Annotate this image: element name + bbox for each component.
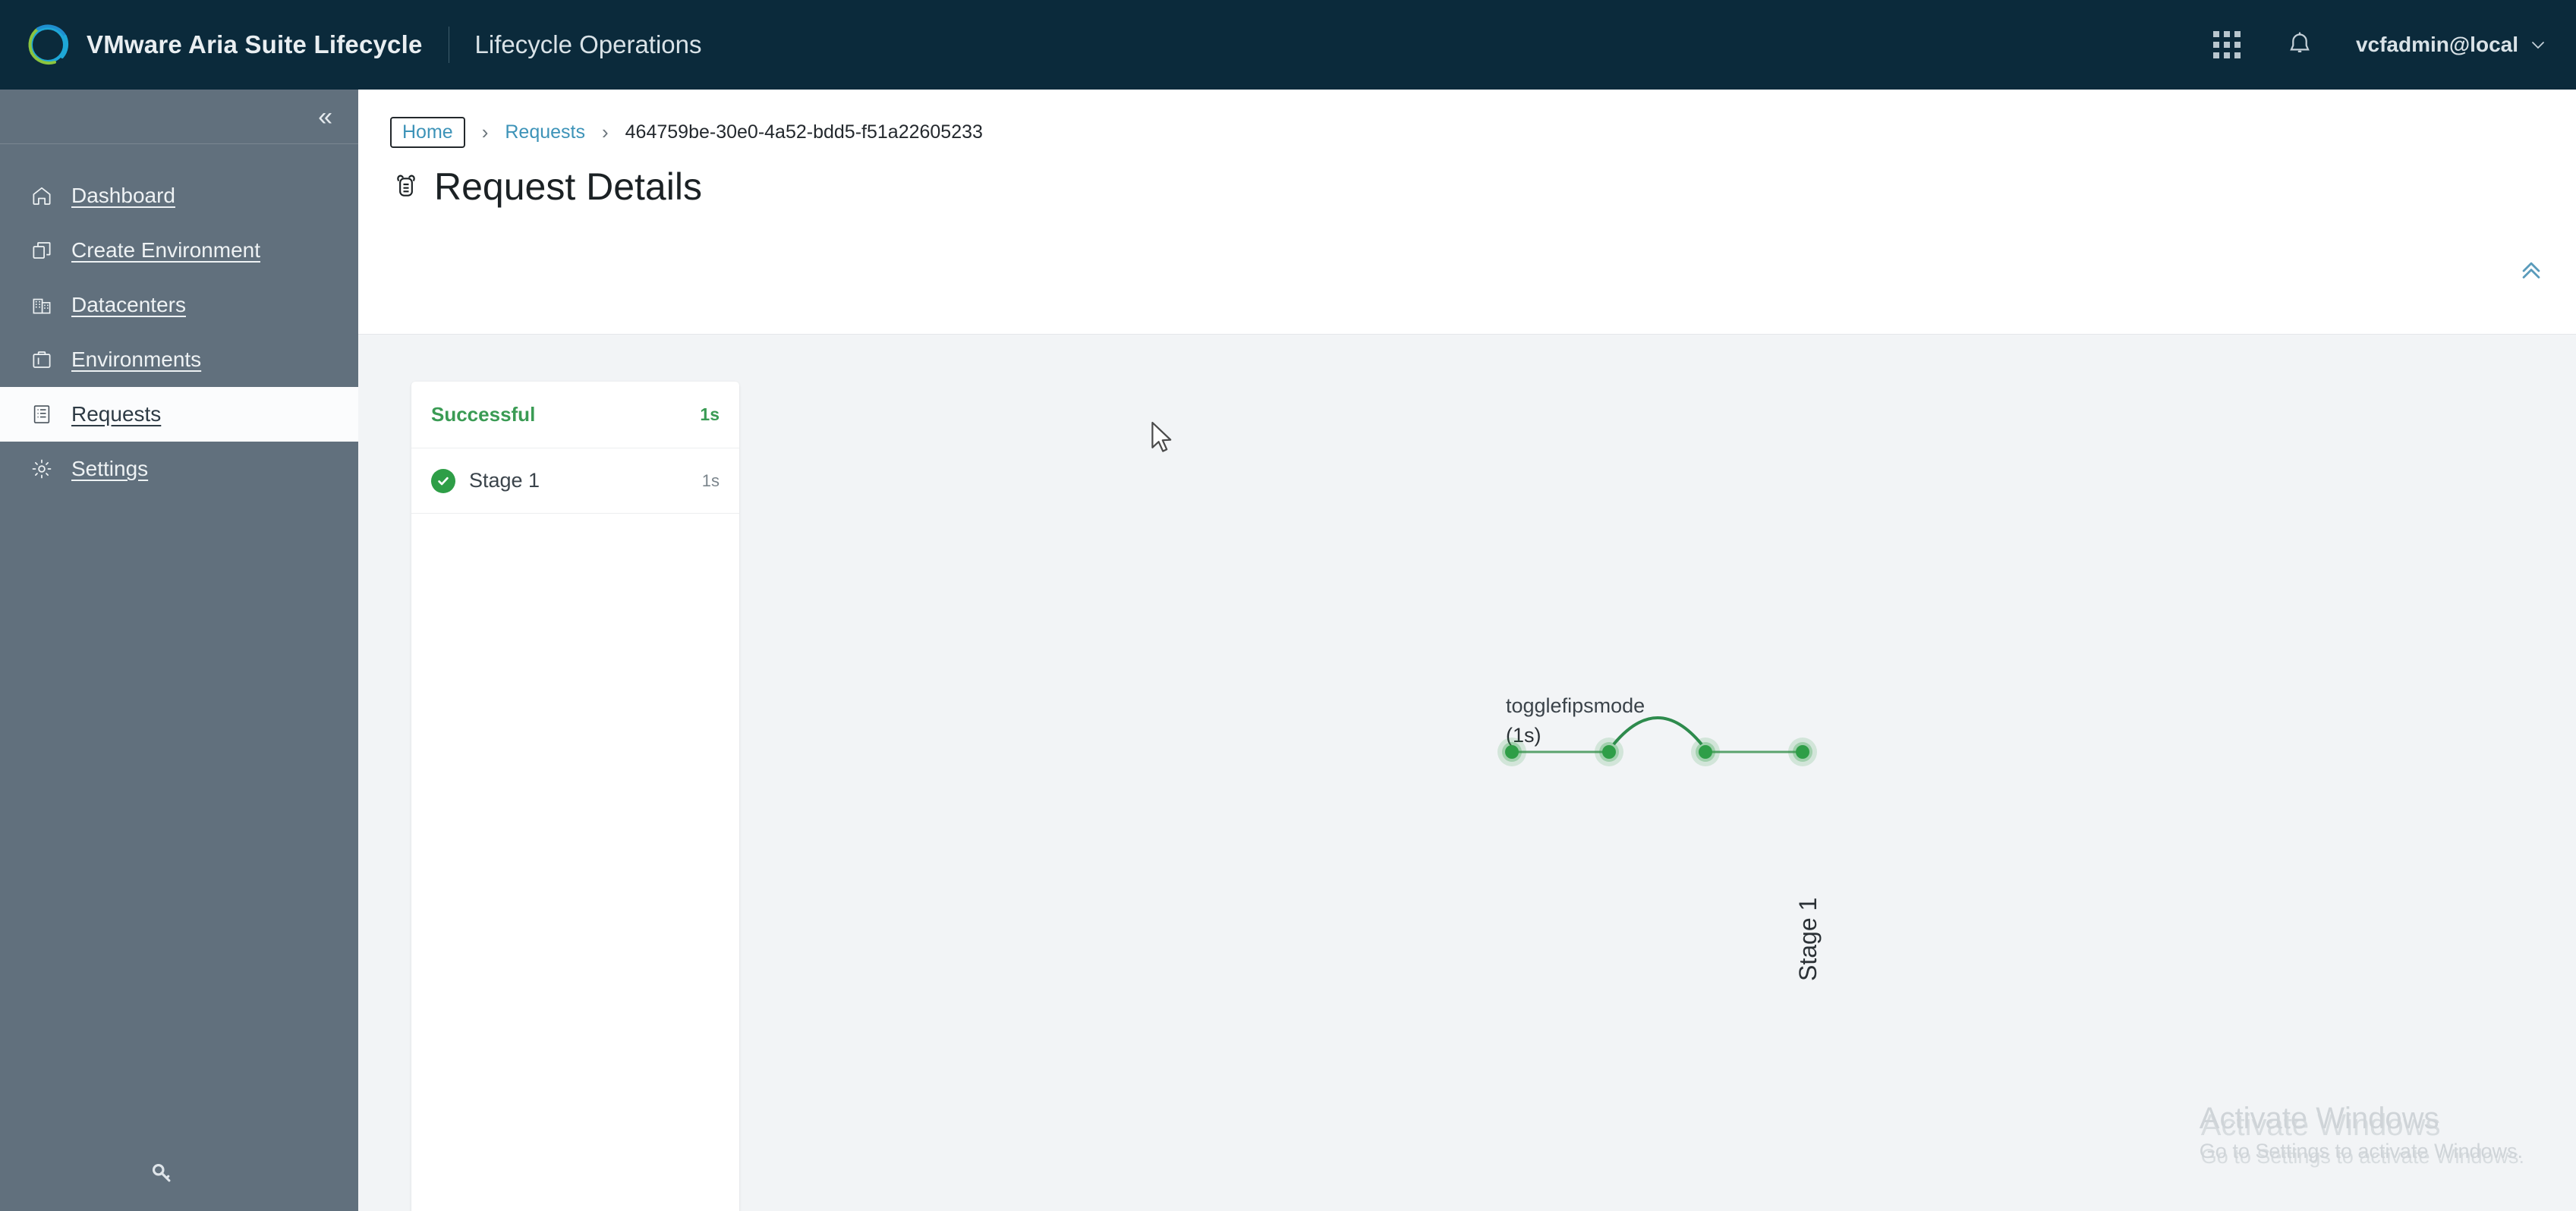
user-name: vcfadmin@local — [2356, 33, 2518, 57]
stage-name: Stage 1 — [469, 469, 688, 492]
sidebar-footer — [0, 1138, 358, 1211]
app-root: VMware Aria Suite Lifecycle Lifecycle Op… — [0, 0, 2576, 1211]
overall-status-row: Successful 1s — [411, 382, 739, 448]
stage-duration: 1s — [702, 471, 720, 491]
graph-node[interactable] — [1497, 738, 1526, 766]
sidebar-item-create-environment[interactable]: Create Environment — [0, 223, 358, 278]
sidebar-item-dashboard[interactable]: Dashboard — [0, 168, 358, 223]
brand-title: VMware Aria Suite Lifecycle — [87, 30, 423, 59]
page-collapse-icon[interactable] — [2518, 258, 2544, 288]
apps-grid-icon[interactable] — [2210, 28, 2244, 61]
sidebar-header: « — [0, 90, 358, 144]
gear-icon — [29, 456, 55, 482]
stage-list-item[interactable]: Stage 1 1s — [411, 448, 739, 514]
sidebar-item-label: Environments — [71, 348, 201, 372]
sidebar-item-label: Dashboard — [71, 184, 175, 208]
header-actions: vcfadmin@local — [2210, 28, 2576, 61]
briefcase-icon — [29, 347, 55, 373]
key-icon[interactable] — [149, 1160, 175, 1190]
sidebar-item-label: Settings — [71, 457, 148, 481]
edge-n2-n3 — [1614, 718, 1702, 744]
stage-axis-label: Stage 1 — [1794, 898, 1822, 981]
page-title-row: Request Details — [358, 148, 2576, 209]
vmware-aria-logo — [18, 15, 77, 74]
graph-node[interactable] — [1595, 738, 1623, 766]
breadcrumb-home[interactable]: Home — [390, 117, 465, 148]
user-menu[interactable]: vcfadmin@local — [2356, 33, 2547, 57]
graph-node[interactable] — [1788, 738, 1817, 766]
breadcrumb-current-id: 464759be-30e0-4a52-bdd5-f51a22605233 — [625, 121, 983, 143]
sidebar-item-environments[interactable]: Environments — [0, 332, 358, 387]
sidebar-collapse-icon[interactable]: « — [318, 104, 332, 130]
header-divider — [449, 27, 449, 63]
app-header: VMware Aria Suite Lifecycle Lifecycle Op… — [0, 0, 2576, 90]
sidebar-item-label: Requests — [71, 402, 161, 426]
sidebar-item-label: Create Environment — [71, 238, 260, 263]
breadcrumb-area: Home › Requests › 464759be-30e0-4a52-bdd… — [358, 90, 2576, 148]
status-badge: Successful — [431, 403, 535, 426]
sidebar-item-datacenters[interactable]: Datacenters — [0, 278, 358, 332]
sidebar-item-settings[interactable]: Settings — [0, 442, 358, 496]
bell-icon[interactable] — [2283, 28, 2316, 61]
sidebar-item-label: Datacenters — [71, 293, 186, 317]
module-title: Lifecycle Operations — [475, 30, 702, 59]
pipeline-graph: Stage 1 togglefipsmode (1s) — [768, 382, 2521, 1211]
copy-stack-icon — [29, 237, 55, 263]
status-duration: 1s — [700, 404, 720, 425]
home-icon — [29, 183, 55, 209]
breadcrumb-separator: › — [602, 121, 609, 144]
page-title: Request Details — [434, 165, 702, 209]
breadcrumb: Home › Requests › 464759be-30e0-4a52-bdd… — [390, 117, 2576, 148]
breadcrumb-requests[interactable]: Requests — [505, 121, 585, 143]
content-area: Successful 1s Stage 1 1s Stage 1 — [358, 335, 2576, 1211]
list-doc-icon — [29, 401, 55, 427]
graph-node[interactable] — [1691, 738, 1720, 766]
main-content: Home › Requests › 464759be-30e0-4a52-bdd… — [358, 90, 2576, 1211]
breadcrumb-separator: › — [482, 121, 489, 144]
chevron-down-icon — [2529, 36, 2547, 54]
sidebar-nav: Dashboard Create Environment — [0, 144, 358, 496]
status-panel: Successful 1s Stage 1 1s — [411, 382, 739, 1211]
check-circle-icon — [431, 469, 455, 493]
request-details-icon — [390, 171, 422, 203]
pipeline-graph-svg — [1436, 685, 2013, 837]
sidebar-item-requests[interactable]: Requests — [0, 387, 358, 442]
sidebar: « Dashboard Create Environment — [0, 90, 358, 1211]
building-icon — [29, 292, 55, 318]
